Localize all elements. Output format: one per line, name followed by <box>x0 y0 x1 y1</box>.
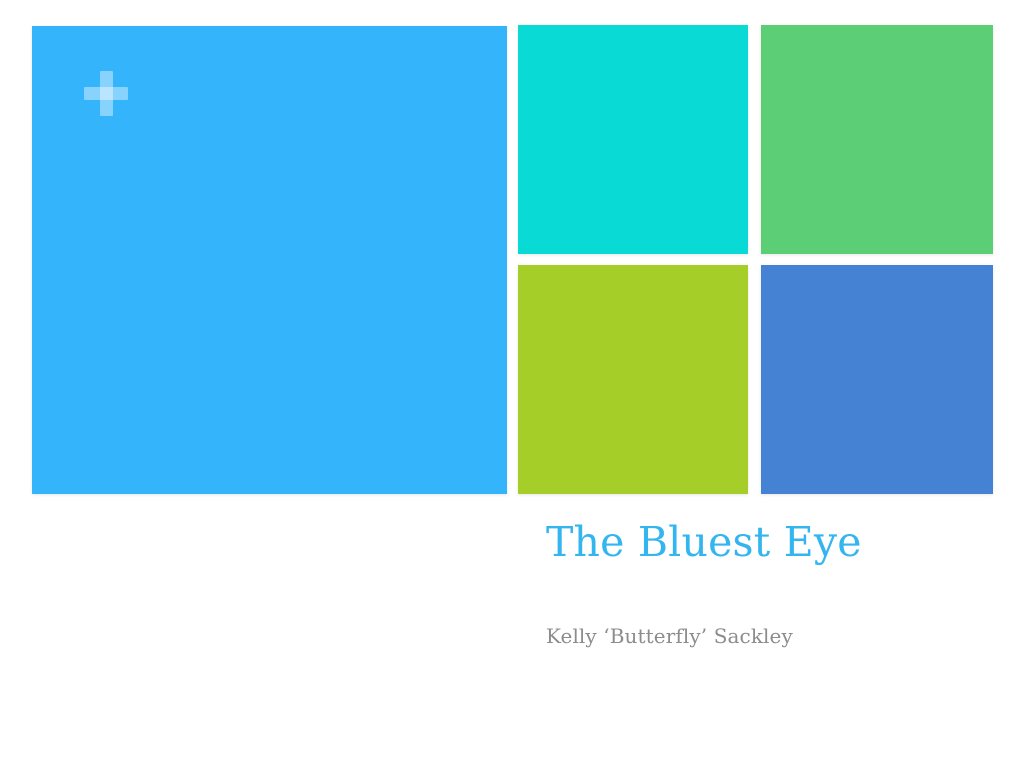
plus-icon-horizontal-bar <box>84 87 128 100</box>
plus-icon <box>84 71 128 116</box>
plus-icon-vertical-bar <box>100 71 113 116</box>
decorative-block-primary <box>32 26 507 494</box>
title-slide: The Bluest Eye Kelly ‘Butterfly’ Sackley <box>0 0 1024 768</box>
decorative-block-teal <box>518 25 748 254</box>
slide-subtitle: Kelly ‘Butterfly’ Sackley <box>546 566 996 648</box>
slide-title: The Bluest Eye <box>546 520 996 566</box>
decorative-block-lime <box>518 265 748 494</box>
decorative-block-blue <box>761 265 993 494</box>
decorative-block-green <box>761 25 993 254</box>
title-text-area: The Bluest Eye Kelly ‘Butterfly’ Sackley <box>546 520 996 648</box>
